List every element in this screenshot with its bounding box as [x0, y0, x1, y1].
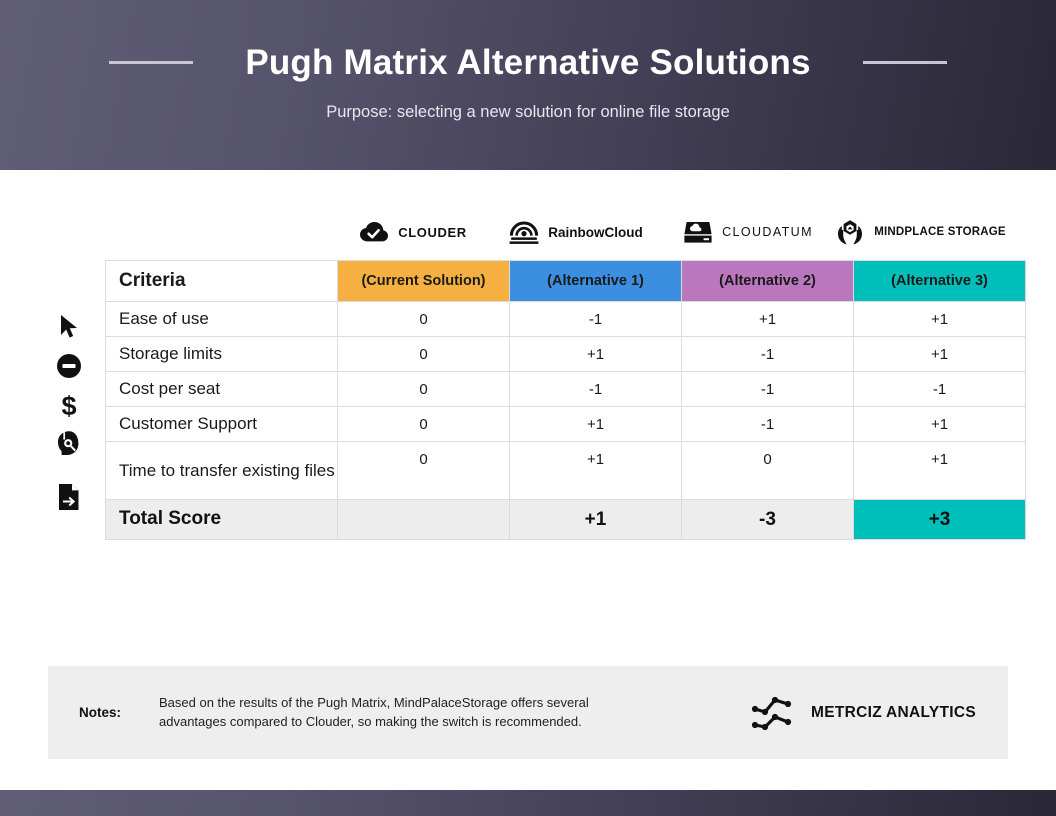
table-row: Storage limits 0 +1 -1 +1 [106, 337, 1026, 372]
page-footer [0, 790, 1056, 816]
page-header: Pugh Matrix Alternative Solutions Purpos… [0, 0, 1056, 170]
vendor-logo-mindplace-storage: MINDPLACE STORAGE [834, 208, 1007, 256]
vendor-logo-label: CLOUDER [398, 225, 466, 240]
score-cell: -1 [854, 372, 1026, 407]
score-cell: 0 [682, 442, 854, 500]
cursor-arrow-icon [54, 312, 84, 342]
page-subtitle: Purpose: selecting a new solution for on… [326, 103, 730, 122]
criteria-label: Storage limits [106, 337, 338, 372]
notes-panel: Notes: Based on the results of the Pugh … [48, 666, 1008, 759]
cloud-check-icon [359, 221, 389, 243]
vendor-logo-label: MINDPLACE STORAGE [874, 226, 1006, 238]
table-row: Customer Support 0 +1 -1 +1 [106, 407, 1026, 442]
criteria-icon-rail: $ [52, 312, 86, 512]
notes-text: Based on the results of the Pugh Matrix,… [159, 694, 629, 732]
criteria-label: Time to transfer existing files [106, 442, 338, 500]
vendor-logo-row: CLOUDER RainbowCloud CLOUDATUM [336, 208, 1007, 256]
title-rule-right [863, 61, 947, 64]
line-chart-logo-icon [751, 693, 799, 733]
total-score-label: Total Score [106, 500, 338, 540]
vendor-logo-label: RainbowCloud [548, 225, 643, 240]
score-cell: -1 [682, 337, 854, 372]
total-score-cell-winner: +3 [854, 500, 1026, 540]
hard-drive-cloud-icon [683, 219, 713, 245]
total-score-cell: -3 [682, 500, 854, 540]
table-row: Ease of use 0 -1 +1 +1 [106, 302, 1026, 337]
score-cell: 0 [338, 442, 510, 500]
total-score-row: Total Score +1 -3 +3 [106, 500, 1026, 540]
score-cell: -1 [682, 407, 854, 442]
table-header-row: Criteria (Current Solution) (Alternative… [106, 261, 1026, 302]
criteria-label: Customer Support [106, 407, 338, 442]
score-cell: +1 [510, 337, 682, 372]
page-title: Pugh Matrix Alternative Solutions [245, 43, 810, 83]
score-cell: 0 [338, 407, 510, 442]
score-cell: +1 [854, 302, 1026, 337]
column-header-current-solution: (Current Solution) [338, 261, 510, 302]
score-cell: +1 [854, 442, 1026, 500]
title-row: Pugh Matrix Alternative Solutions [0, 43, 1056, 83]
vendor-logo-cloudatum: CLOUDATUM [662, 208, 834, 256]
score-cell: -1 [682, 372, 854, 407]
column-header-alternative-3: (Alternative 3) [854, 261, 1026, 302]
vendor-logo-rainbowcloud: RainbowCloud [490, 208, 662, 256]
vendor-logo-clouder: CLOUDER [336, 208, 490, 256]
vendor-logo-label: CLOUDATUM [722, 225, 813, 239]
score-cell: 0 [338, 372, 510, 407]
score-cell: +1 [510, 407, 682, 442]
pugh-matrix-table: Criteria (Current Solution) (Alternative… [105, 260, 1026, 540]
dollar-sign-icon: $ [54, 390, 84, 420]
score-cell: +1 [682, 302, 854, 337]
score-cell: 0 [338, 337, 510, 372]
hands-diamond-icon [835, 218, 865, 246]
score-cell: -1 [510, 372, 682, 407]
table-row: Cost per seat 0 -1 -1 -1 [106, 372, 1026, 407]
criteria-label: Ease of use [106, 302, 338, 337]
total-score-cell: +1 [510, 500, 682, 540]
score-cell: 0 [338, 302, 510, 337]
total-score-cell [338, 500, 510, 540]
column-header-criteria: Criteria [106, 261, 338, 302]
column-header-alternative-2: (Alternative 2) [682, 261, 854, 302]
notes-label: Notes: [79, 705, 159, 720]
headset-support-icon [54, 428, 84, 458]
minus-circle-icon [54, 351, 84, 381]
brand-name: METRCIZ ANALYTICS [811, 704, 976, 722]
score-cell: -1 [510, 302, 682, 337]
table-row: Time to transfer existing files 0 +1 0 +… [106, 442, 1026, 500]
column-header-alternative-1: (Alternative 1) [510, 261, 682, 302]
score-cell: +1 [510, 442, 682, 500]
title-rule-left [109, 61, 193, 64]
score-cell: +1 [854, 407, 1026, 442]
score-cell: +1 [854, 337, 1026, 372]
brand-logo: METRCIZ ANALYTICS [751, 693, 976, 733]
svg-text:$: $ [61, 391, 76, 419]
criteria-label: Cost per seat [106, 372, 338, 407]
rainbow-arch-icon [509, 219, 539, 245]
file-transfer-arrow-icon [54, 482, 84, 512]
